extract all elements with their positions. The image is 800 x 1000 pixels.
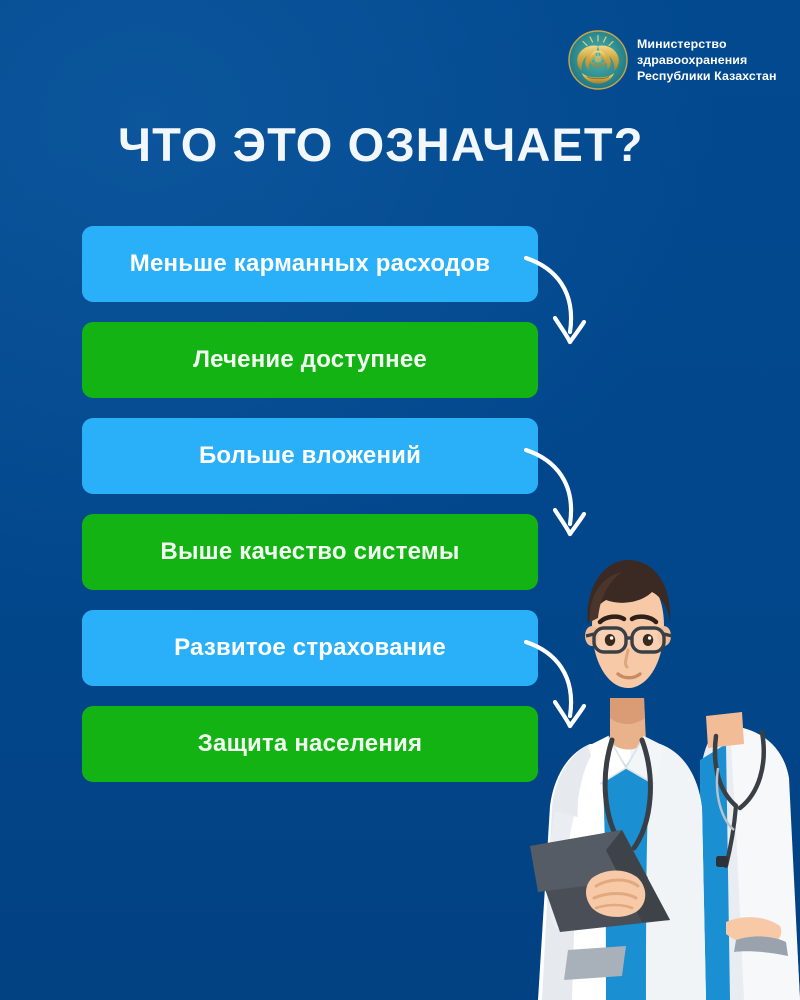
benefit-bar-1: Меньше карманных расходов — [82, 226, 538, 302]
ministry-line-2: здравоохранения — [637, 52, 777, 68]
benefit-bar-1-label: Меньше карманных расходов — [130, 250, 490, 278]
ministry-logo-text: Министерство здравоохранения Республики … — [637, 36, 777, 85]
infographic-page: Министерство здравоохранения Республики … — [0, 0, 800, 1000]
benefit-bar-2-label: Лечение доступнее — [193, 346, 427, 374]
benefit-bar-5-label: Развитое страхование — [174, 634, 446, 662]
benefit-bar-6: Защита населения — [82, 706, 538, 782]
kazakhstan-state-emblem-icon — [568, 30, 628, 90]
benefit-bar-6-label: Защита населения — [198, 730, 422, 758]
benefit-bar-4-label: Выше качество системы — [160, 538, 459, 566]
benefit-bar-3: Больше вложений — [82, 418, 538, 494]
benefit-bar-4: Выше качество системы — [82, 514, 538, 590]
ministry-line-1: Министерство — [637, 36, 777, 52]
benefit-bars-list: Меньше карманных расходов Лечение доступ… — [82, 226, 538, 782]
benefit-bar-3-label: Больше вложений — [199, 442, 421, 470]
ministry-logo: Министерство здравоохранения Республики … — [568, 24, 784, 96]
benefit-bar-5: Развитое страхование — [82, 610, 538, 686]
page-title: ЧТО ЭТО ОЗНАЧАЕТ? — [118, 120, 718, 171]
ministry-line-3: Республики Казахстан — [637, 68, 777, 84]
benefit-bar-2: Лечение доступнее — [82, 322, 538, 398]
